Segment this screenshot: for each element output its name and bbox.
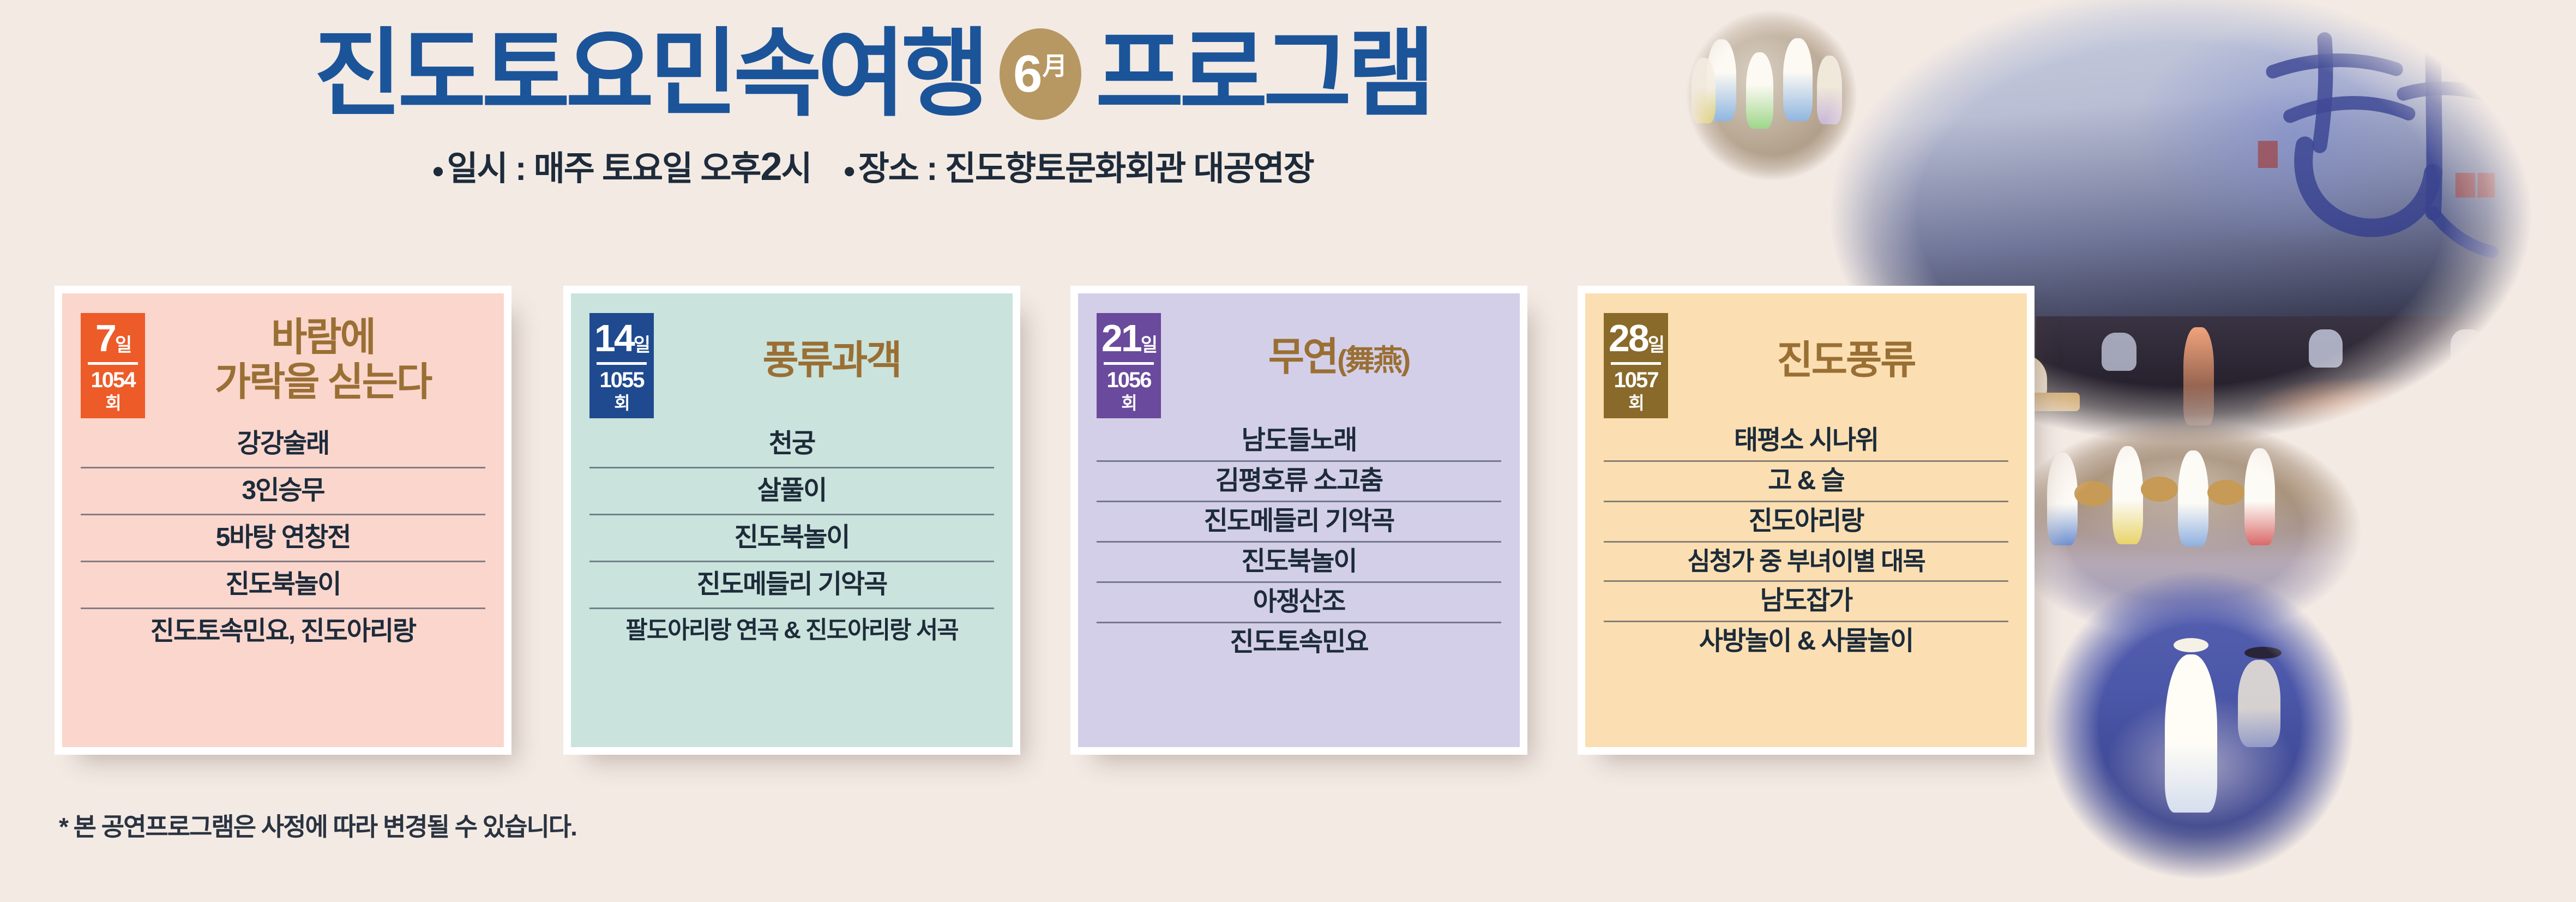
card-title: 진도풍류 [1683, 313, 2008, 383]
subtitle-time-unit: 시 [781, 150, 811, 188]
musician-seated [2238, 660, 2280, 747]
title-row: 진도토요민속여행 6月 프로그램 [0, 0, 1745, 122]
gat-hat [2244, 647, 2282, 659]
program-item: 진도토속민요, 진도아리랑 [81, 608, 485, 654]
program-item: 아쟁산조 [1097, 581, 1501, 622]
card-header: 7일 1054회 바람에 가락을 싣는다 [81, 313, 485, 418]
program-item: 진도메들리 기악곡 [1097, 501, 1501, 541]
round-number: 1057 [1614, 368, 1658, 392]
card-title-hanja: (舞燕) [1337, 344, 1409, 377]
card-header: 21일 1056회 무연(舞燕) [1097, 313, 1501, 418]
program-item: 진도북놀이 [1097, 541, 1501, 581]
page-title-suffix: 프로그램 [1096, 26, 1431, 122]
subtitle-place: 장소 : 진도향토문화회관 대공연장 [858, 150, 1314, 188]
date-day: 7 [95, 317, 115, 359]
program-card[interactable]: 28일 1057회 진도풍류 태평소 시나위 고 & 슬 진도아리랑 심청가 중… [1578, 286, 2035, 755]
date-badge: 7일 1054회 [81, 313, 145, 418]
card-title-text: 무연 [1268, 335, 1337, 379]
performer-left [2102, 333, 2136, 371]
date-day: 28 [1609, 317, 1648, 359]
card-header: 28일 1057회 진도풍류 [1604, 313, 2008, 418]
card-title: 바람에 가락을 싣는다 [160, 313, 485, 405]
round-unit: 회 [1628, 393, 1643, 413]
round-unit: 회 [1121, 393, 1136, 413]
program-cards: 7일 1054회 바람에 가락을 싣는다 강강술래 3인승무 5바탕 연창전 진… [0, 286, 2105, 766]
badge-divider [1104, 362, 1154, 365]
program-item: 진도아리랑 [1604, 501, 2008, 541]
program-item: 5바탕 연창전 [81, 514, 485, 561]
stage-floor [2036, 316, 2532, 447]
program-item: 김평호류 소고춤 [1097, 460, 1501, 501]
stage-spotlight [2249, 376, 2483, 442]
program-card[interactable]: 7일 1054회 바람에 가락을 싣는다 강강술래 3인승무 5바탕 연창전 진… [55, 286, 511, 755]
janggu-drum-3 [2207, 480, 2244, 505]
program-card[interactable]: 21일 1056회 무연(舞燕) 남도들노래 김평호류 소고춤 진도메들리 기악… [1070, 286, 1527, 755]
dancer-2 [1746, 52, 1773, 129]
solo-dancer [2165, 654, 2217, 813]
program-list: 태평소 시나위 고 & 슬 진도아리랑 심청가 중 부녀이별 대목 남도잡가 사… [1604, 422, 2008, 661]
poster-header: 진도토요민속여행 6月 프로그램 ●일시 : 매주 토요일 오후2시●장소 : … [0, 0, 1745, 190]
program-item: 태평소 시나위 [1604, 422, 2008, 460]
dancer-hat [2174, 638, 2208, 652]
performer-center [2183, 327, 2214, 425]
dancer-5 [1817, 56, 1842, 124]
program-item: 진도토속민요 [1097, 622, 1501, 662]
program-item: 고 & 슬 [1604, 460, 2008, 501]
round-number: 1054 [91, 368, 135, 392]
card-title: 풍류과객 [669, 313, 994, 383]
dancer-3 [1783, 38, 1813, 121]
drummer-3 [2178, 450, 2208, 546]
date-day-unit: 일 [1648, 335, 1663, 356]
date-badge: 21일 1056회 [1097, 313, 1161, 418]
date-day: 21 [1102, 317, 1141, 359]
card-title: 무연(舞燕) [1176, 313, 1501, 380]
program-item: 천궁 [589, 422, 994, 467]
date-badge: 14일 1055회 [589, 313, 654, 418]
bullet-icon: ● [431, 159, 443, 183]
footnote: * 본 공연프로그램은 사정에 따라 변경될 수 있습니다. [59, 807, 576, 843]
date-day-unit: 일 [115, 335, 130, 356]
program-item: 팔도아리랑 연곡 & 진도아리랑 서곡 [589, 608, 994, 652]
calligraphy-brush-icon [2243, 27, 2500, 262]
program-item: 3인승무 [81, 467, 485, 514]
month-number: 6 [1013, 48, 1042, 100]
subtitle-time-value: 2 [760, 145, 781, 189]
date-day-unit: 일 [634, 335, 649, 356]
program-list: 강강술래 3인승무 5바탕 연창전 진도북놀이 진도토속민요, 진도아리랑 [81, 422, 485, 654]
badge-divider [597, 362, 647, 365]
program-item: 남도잡가 [1604, 580, 2008, 621]
round-number: 1056 [1107, 368, 1151, 392]
program-item: 진도북놀이 [81, 561, 485, 608]
program-card[interactable]: 14일 1055회 풍류과객 천궁 살풀이 진도북놀이 진도메들리 기악곡 팔도… [563, 286, 1020, 755]
janggu-drum-2 [2141, 477, 2178, 502]
poster-root: 진도토요민속여행 6月 프로그램 ●일시 : 매주 토요일 오후2시●장소 : … [0, 0, 2576, 902]
page-title: 진도토요민속여행 [314, 26, 985, 122]
round-unit: 회 [105, 393, 120, 413]
round-unit: 회 [614, 393, 629, 413]
subtitle-date-label: 일시 : 매주 토요일 오후 [447, 150, 761, 188]
performer-right [2309, 329, 2343, 368]
month-badge: 6月 [1000, 28, 1081, 120]
program-item: 진도북놀이 [589, 514, 994, 561]
round-number: 1055 [600, 368, 644, 392]
drummer-2 [2112, 446, 2143, 544]
badge-divider [1611, 362, 1661, 365]
badge-divider [88, 362, 138, 365]
subtitle: ●일시 : 매주 토요일 오후2시●장소 : 진도향토문화회관 대공연장 [0, 141, 1745, 190]
performer-far-right [2451, 329, 2484, 368]
date-day-unit: 일 [1141, 335, 1156, 356]
program-list: 남도들노래 김평호류 소고춤 진도메들리 기악곡 진도북놀이 아쟁산조 진도토속… [1097, 422, 1501, 662]
date-day: 14 [594, 317, 634, 359]
program-list: 천궁 살풀이 진도북놀이 진도메들리 기악곡 팔도아리랑 연곡 & 진도아리랑 … [589, 422, 994, 652]
program-item: 심청가 중 부녀이별 대목 [1604, 541, 2008, 580]
program-item: 사방놀이 & 사물놀이 [1604, 621, 2008, 661]
date-badge: 28일 1057회 [1604, 313, 1668, 418]
program-item: 강강술래 [81, 422, 485, 467]
bullet-icon-2: ● [843, 159, 855, 183]
drummer-4 [2244, 448, 2275, 545]
program-item: 살풀이 [589, 467, 994, 514]
card-header: 14일 1055회 풍류과객 [589, 313, 994, 418]
month-unit: 月 [1043, 53, 1068, 79]
program-item: 남도들노래 [1097, 422, 1501, 460]
program-item: 진도메들리 기악곡 [589, 561, 994, 608]
